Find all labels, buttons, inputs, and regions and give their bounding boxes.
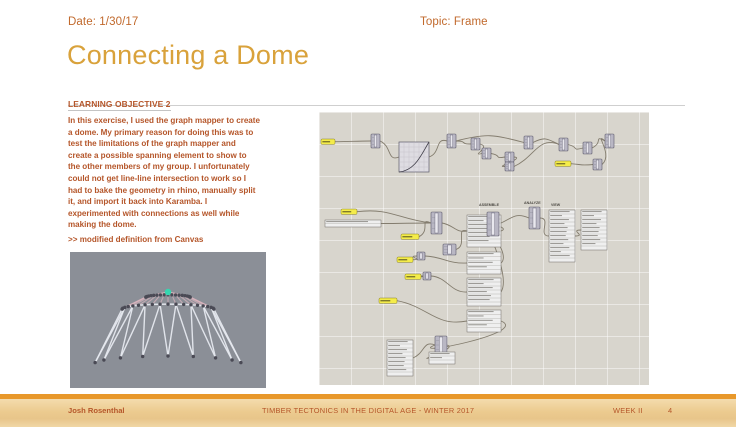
learning-objective-block: LEARNING OBJECTIVE 2 In this exercise, I… (68, 94, 260, 246)
objective-body-text: In this exercise, I used the graph mappe… (68, 115, 260, 231)
footer-week-label: WEEK II (613, 406, 643, 415)
svg-text:ANALYZE: ANALYZE (524, 201, 541, 205)
objective-heading: LEARNING OBJECTIVE 2 (68, 99, 171, 111)
topic-label: Topic: Frame (420, 16, 488, 28)
footer-page-number: 4 (668, 406, 672, 415)
svg-text:ASSEMBLE: ASSEMBLE (479, 203, 500, 207)
footer-course-title: TIMBER TECTONICS IN THE DIGITAL AGE - WI… (262, 406, 474, 415)
svg-text:VIEW: VIEW (551, 203, 561, 207)
dome-render-svg (70, 252, 266, 388)
dome-render-image (70, 252, 266, 388)
page-title: Connecting a Dome (67, 40, 309, 71)
grasshopper-canvas[interactable]: ASSEMBLEANALYZEVIEW (319, 112, 649, 385)
slide-header: Date: 1/30/17 Topic: Frame Connecting a … (0, 0, 736, 90)
date-label: Date: 1/30/17 (68, 16, 138, 28)
slide-footer: Josh Rosenthal TIMBER TECTONICS IN THE D… (0, 394, 736, 427)
footer-author: Josh Rosenthal (68, 406, 125, 415)
grasshopper-graph-svg[interactable]: ASSEMBLEANALYZEVIEW (319, 112, 649, 385)
objective-note-text: >> modified definition from Canvas (68, 234, 260, 246)
